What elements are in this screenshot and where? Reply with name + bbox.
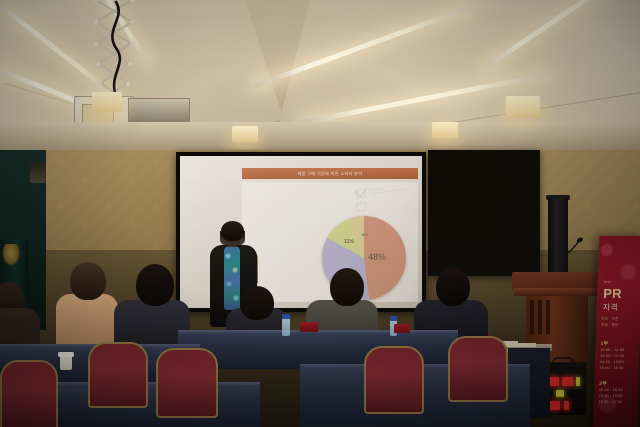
banner-time: 15:00 - 15:30 — [600, 366, 624, 370]
attendee-head — [330, 268, 364, 306]
banner-line-2: 후원 · 협찬 — [601, 322, 618, 327]
presenter-hair — [221, 221, 244, 241]
soffit-downlight — [432, 122, 458, 138]
timer-digit-led — [576, 377, 580, 386]
handout-papers — [518, 343, 536, 347]
cup-lid — [58, 352, 74, 357]
attendee-head — [240, 286, 274, 320]
banquet-chair — [448, 336, 508, 402]
slide-title: 제품 구매 기준에 따른 소비자 분석 — [298, 171, 363, 177]
banner-time: 14:30 - 15:00 — [600, 360, 624, 364]
water-bottle — [282, 318, 290, 336]
name-card — [394, 324, 410, 333]
banquet-chair — [0, 360, 58, 427]
attendee-head — [436, 268, 470, 306]
banner-section-1: 1부 — [600, 340, 608, 347]
lectern-slat — [538, 300, 542, 334]
banner-time: 16:40 - 16:50 — [599, 394, 623, 398]
bottle-cap — [282, 314, 290, 319]
slide-title-bar: 제품 구매 기준에 따른 소비자 분석 — [242, 168, 418, 179]
attendee-shoulders — [56, 294, 118, 346]
event-banner: 2013 PR 자격 주최 · 주관 후원 · 협찬 1부 13:00 - 14… — [593, 236, 640, 427]
soffit-downlight — [232, 126, 258, 142]
banner-kicker: 2013 — [604, 280, 612, 284]
lectern-lip — [514, 288, 604, 296]
banner-time: 13:00 - 14:00 — [600, 348, 624, 352]
timer-digit-led — [550, 401, 560, 410]
banner-headline: PR — [603, 286, 622, 301]
soffit-downlight — [92, 92, 122, 112]
wall-mounted-fixture — [30, 163, 46, 183]
banquet-chair — [88, 342, 148, 408]
banquet-chair — [156, 348, 218, 418]
timer-digit-led — [556, 390, 564, 397]
banner-time: 14:00 - 14:30 — [600, 354, 624, 358]
lectern-slat — [546, 300, 550, 334]
banquet-chair — [364, 346, 424, 414]
attendee-head — [136, 264, 174, 306]
attendee-head — [70, 262, 106, 300]
banner-section-2: 2부 — [599, 380, 607, 387]
lectern-slat — [530, 300, 534, 334]
banner-time: 16:50 - 17:00 — [598, 400, 622, 404]
column-speaker — [548, 198, 568, 276]
banner-time: 16:30 - 16:40 — [599, 388, 623, 392]
conference-room-photo: 제품 구매 기준에 따른 소비자 분석 48% 35% 11% 6% — [0, 0, 640, 427]
coffee-cup — [60, 356, 72, 370]
projector-scissor-lift — [86, 0, 146, 104]
timer-digit-led — [562, 377, 573, 386]
banner-line-1: 주최 · 주관 — [601, 316, 618, 321]
gooseneck-microphone — [566, 236, 584, 254]
wall-emblem — [2, 244, 20, 266]
bottle-cap — [390, 316, 397, 321]
presenter-scarf — [224, 246, 240, 310]
timer-digit-led — [564, 401, 569, 410]
name-card — [300, 322, 318, 332]
screen-frame-right-section — [428, 150, 540, 276]
banner-subhead: 자격 — [603, 302, 619, 313]
banner-floral-pattern — [593, 236, 640, 427]
soffit-downlight — [506, 96, 540, 118]
